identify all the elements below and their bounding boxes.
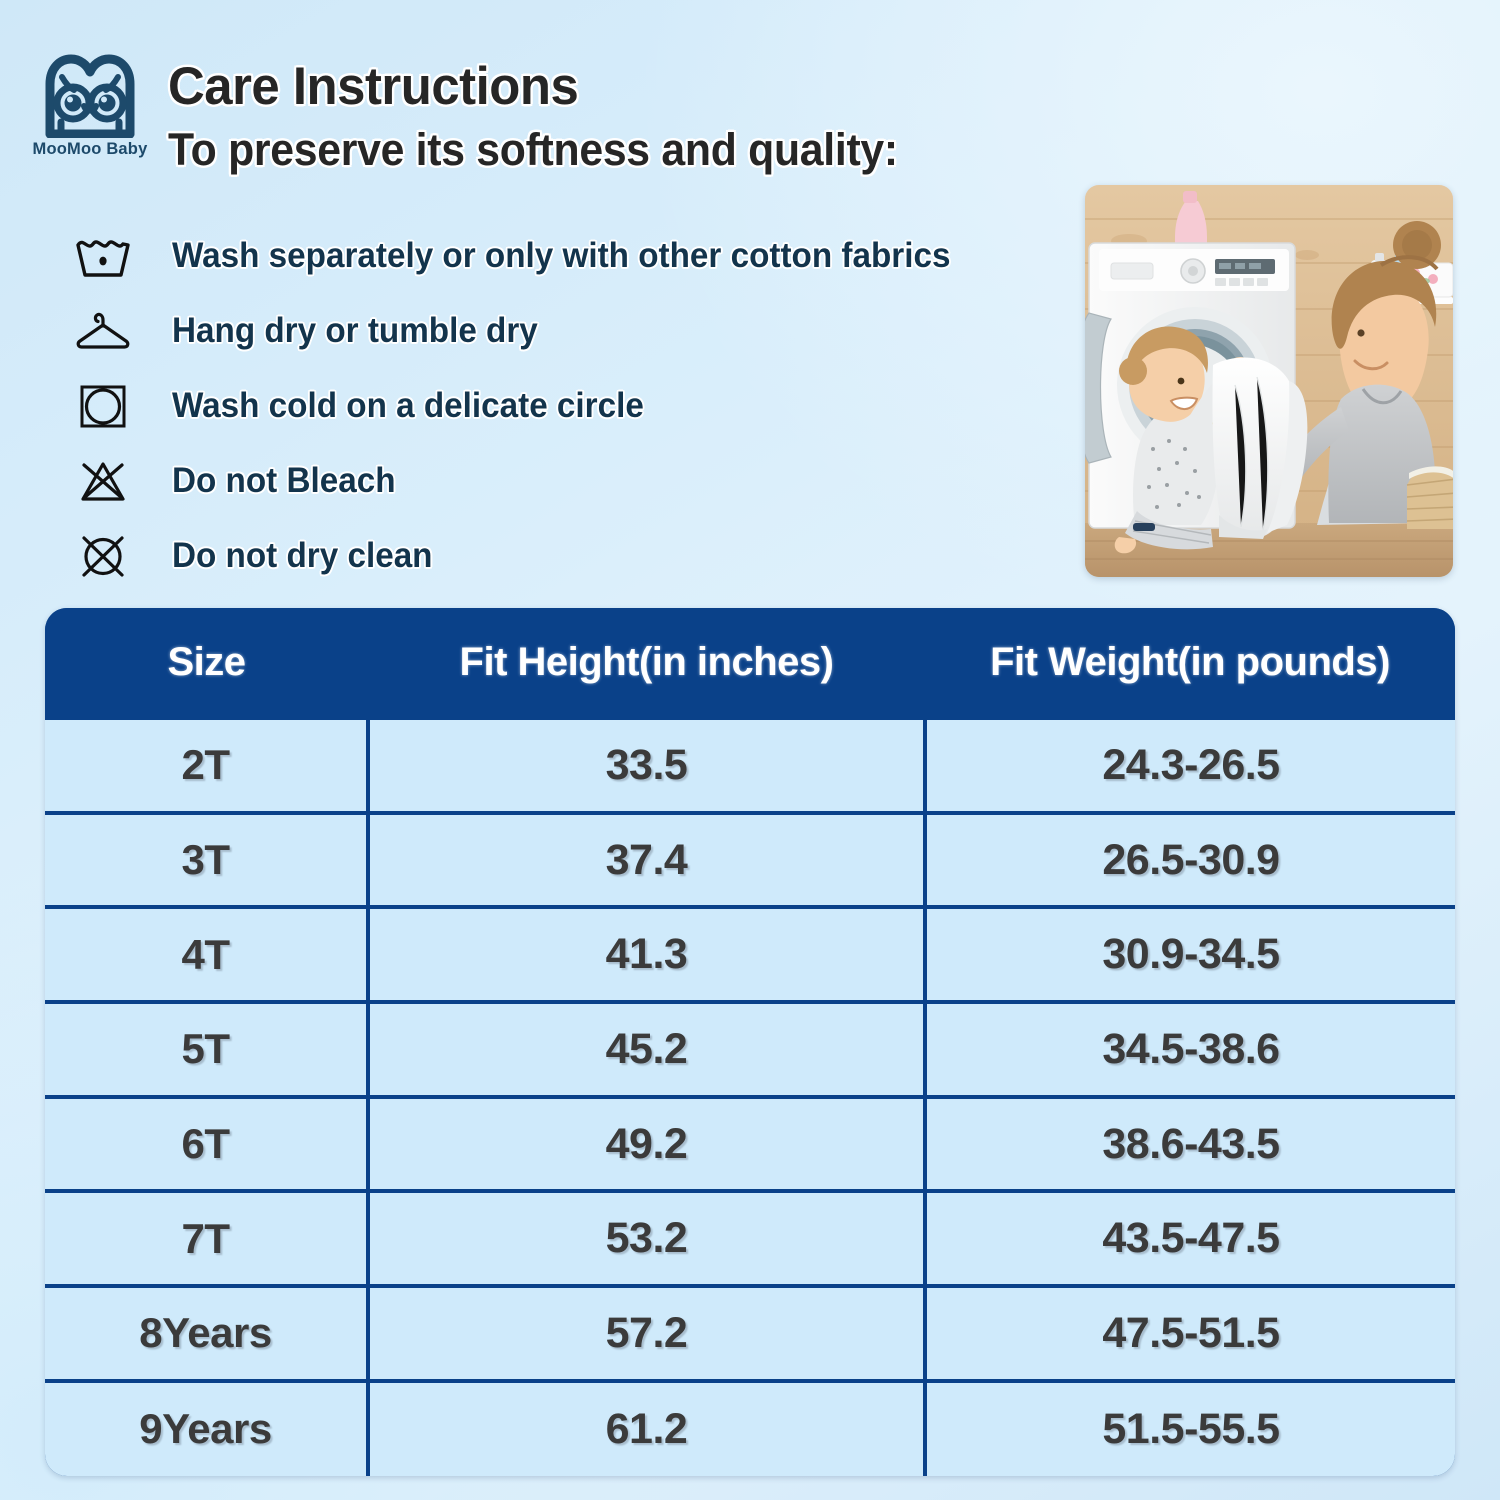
table-row: 3T 37.4 26.5-30.9 [45,813,1455,908]
do-not-dry-clean-icon [72,531,134,581]
care-instruction-item: Wash cold on a delicate circle [0,368,1070,443]
cell-weight: 47.5-51.5 [925,1286,1455,1381]
table-row: 7T 53.2 43.5-47.5 [45,1191,1455,1286]
cell-size: 2T [45,718,368,813]
size-chart-table: Size Fit Height(in inches) Fit Weight(in… [45,608,1455,1476]
brand-name: MooMoo Baby [26,140,154,159]
page-subtitle: To preserve its softness and quality: [168,124,898,176]
table-row: 5T 45.2 34.5-38.6 [45,1002,1455,1097]
cell-size: 6T [45,1097,368,1192]
care-instruction-label: Do not Bleach [172,461,396,501]
cell-height: 45.2 [368,1002,925,1097]
column-header-height: Fit Height(in inches) [368,608,925,718]
wash-tub-icon [72,231,134,281]
care-instruction-item: Wash separately or only with other cotto… [0,218,1070,293]
cell-height: 57.2 [368,1286,925,1381]
cell-size: 3T [45,813,368,908]
table-row: 4T 41.3 30.9-34.5 [45,907,1455,1002]
care-instruction-label: Do not dry clean [172,536,433,576]
care-instruction-item: Hang dry or tumble dry [0,293,1070,368]
cell-weight: 51.5-55.5 [925,1381,1455,1476]
cell-size: 8Years [45,1286,368,1381]
table-row: 9Years 61.2 51.5-55.5 [45,1381,1455,1476]
cell-weight: 43.5-47.5 [925,1191,1455,1286]
cell-size: 7T [45,1191,368,1286]
cell-weight: 26.5-30.9 [925,813,1455,908]
cell-size: 9Years [45,1381,368,1476]
care-instruction-item: Do not Bleach [0,443,1070,518]
brand-logo: MooMoo Baby [26,54,154,172]
table-row: 2T 33.5 24.3-26.5 [45,718,1455,813]
table-row: 6T 49.2 38.6-43.5 [45,1097,1455,1192]
column-header-weight: Fit Weight(in pounds) [925,608,1455,718]
clothes-hanger-icon [72,306,134,356]
cell-weight: 38.6-43.5 [925,1097,1455,1192]
cell-size: 4T [45,907,368,1002]
do-not-bleach-icon [72,456,134,506]
page-header: MooMoo Baby Care Instructions To preserv… [0,0,1500,185]
cell-height: 37.4 [368,813,925,908]
cell-weight: 24.3-26.5 [925,718,1455,813]
care-instruction-label: Wash cold on a delicate circle [172,386,644,426]
table-row: 8Years 57.2 47.5-51.5 [45,1286,1455,1381]
cell-size: 5T [45,1002,368,1097]
cell-height: 61.2 [368,1381,925,1476]
cell-weight: 30.9-34.5 [925,907,1455,1002]
cell-height: 49.2 [368,1097,925,1192]
column-header-size: Size [45,608,368,718]
cell-height: 33.5 [368,718,925,813]
cell-height: 53.2 [368,1191,925,1286]
tumble-dry-icon [72,381,134,431]
table-body: 2T 33.5 24.3-26.5 3T 37.4 26.5-30.9 4T 4… [45,718,1455,1476]
table-header-row: Size Fit Height(in inches) Fit Weight(in… [45,608,1455,718]
care-instruction-label: Hang dry or tumble dry [172,311,538,351]
care-instruction-item: Do not dry clean [0,518,1070,593]
laundry-photo [1085,185,1453,577]
care-instruction-list: Wash separately or only with other cotto… [0,218,1070,593]
cell-height: 41.3 [368,907,925,1002]
page-title: Care Instructions [168,56,578,117]
care-instruction-label: Wash separately or only with other cotto… [172,236,950,276]
cell-weight: 34.5-38.6 [925,1002,1455,1097]
owl-logo-icon [40,54,140,138]
